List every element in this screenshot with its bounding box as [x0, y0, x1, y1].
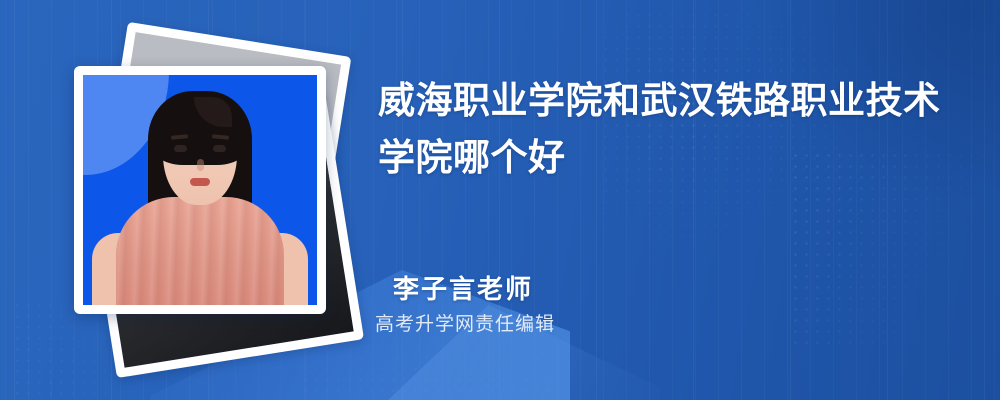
article-header-banner: 威海职业学院和武汉铁路职业技术学院哪个好 李子言老师 高考升学网责任编辑 — [0, 0, 1000, 400]
portrait-eye-left — [174, 145, 187, 152]
author-portrait — [83, 75, 317, 305]
author-photo-stack — [48, 32, 348, 362]
portrait-eye-right — [213, 145, 226, 152]
portrait-mouth — [190, 178, 210, 186]
portrait-nose — [197, 159, 204, 171]
page-title: 威海职业学院和武汉铁路职业技术学院哪个好 — [378, 72, 968, 186]
author-name: 李子言老师 — [393, 273, 953, 305]
banner-text-column: 威海职业学院和武汉铁路职业技术学院哪个好 李子言老师 高考升学网责任编辑 — [375, 0, 975, 400]
author-byline: 李子言老师 高考升学网责任编辑 — [393, 273, 953, 337]
author-role: 高考升学网责任编辑 — [375, 313, 953, 337]
portrait-garment-folds — [116, 197, 284, 305]
author-photo-card — [74, 66, 326, 314]
